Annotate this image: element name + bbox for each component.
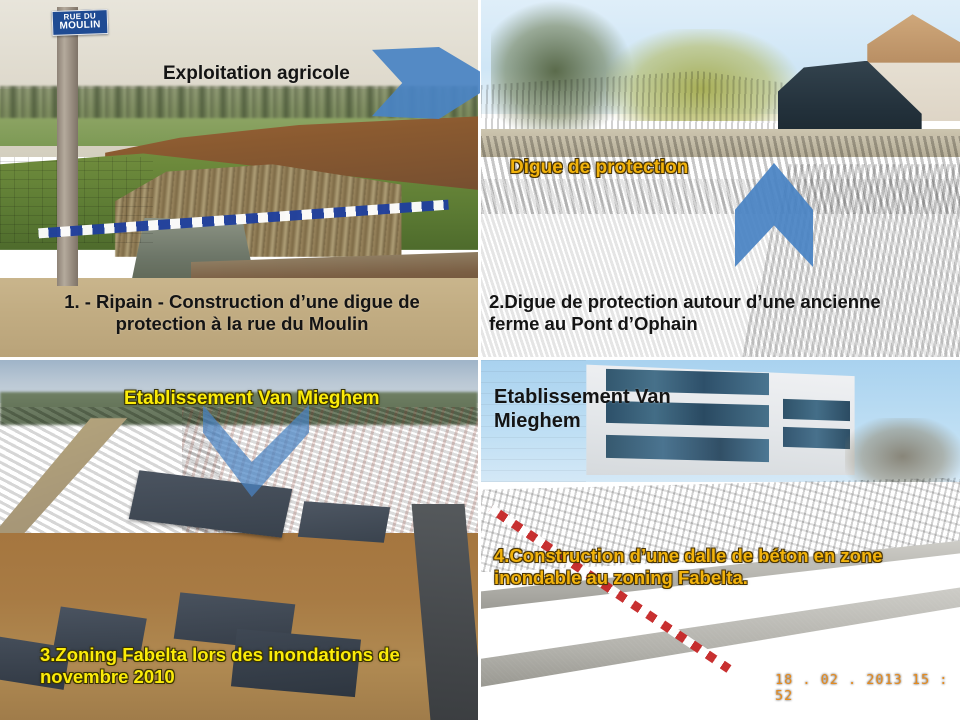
caption-panel-1: 1. - Ripain - Construction d’une digue d… [22, 291, 462, 335]
window-band [606, 435, 769, 463]
label-digue-de-protection: Digue de protection [510, 157, 688, 179]
label-exploitation-agricole: Exploitation agricole [163, 63, 350, 85]
utility-pole [57, 7, 78, 285]
caption-panel-3: 3.Zoning Fabelta lors des inondations de… [40, 644, 470, 688]
street-sign-line2: MOULIN [55, 21, 105, 33]
warehouse-roof [298, 501, 390, 543]
street-sign-rue-du-moulin: RUE DU MOULIN [52, 9, 109, 36]
window-band [783, 427, 850, 449]
caption-panel-2: 2.Digue de protection autour d’une ancie… [489, 291, 954, 335]
slide-canvas: RUE DU MOULIN [0, 0, 960, 720]
caption-panel-4: 4.Construction d’une dalle de béton en z… [494, 545, 944, 589]
camera-timestamp: 18 . 02 . 2013 15 : 52 [775, 672, 960, 704]
label-etablissement-van-mieghem-dark: Etablissement Van Mieghem [494, 386, 694, 433]
label-etablissement-van-mieghem-yellow: Etablissement Van Mieghem [124, 388, 380, 410]
window-band [783, 398, 850, 420]
background-trees [845, 418, 960, 483]
